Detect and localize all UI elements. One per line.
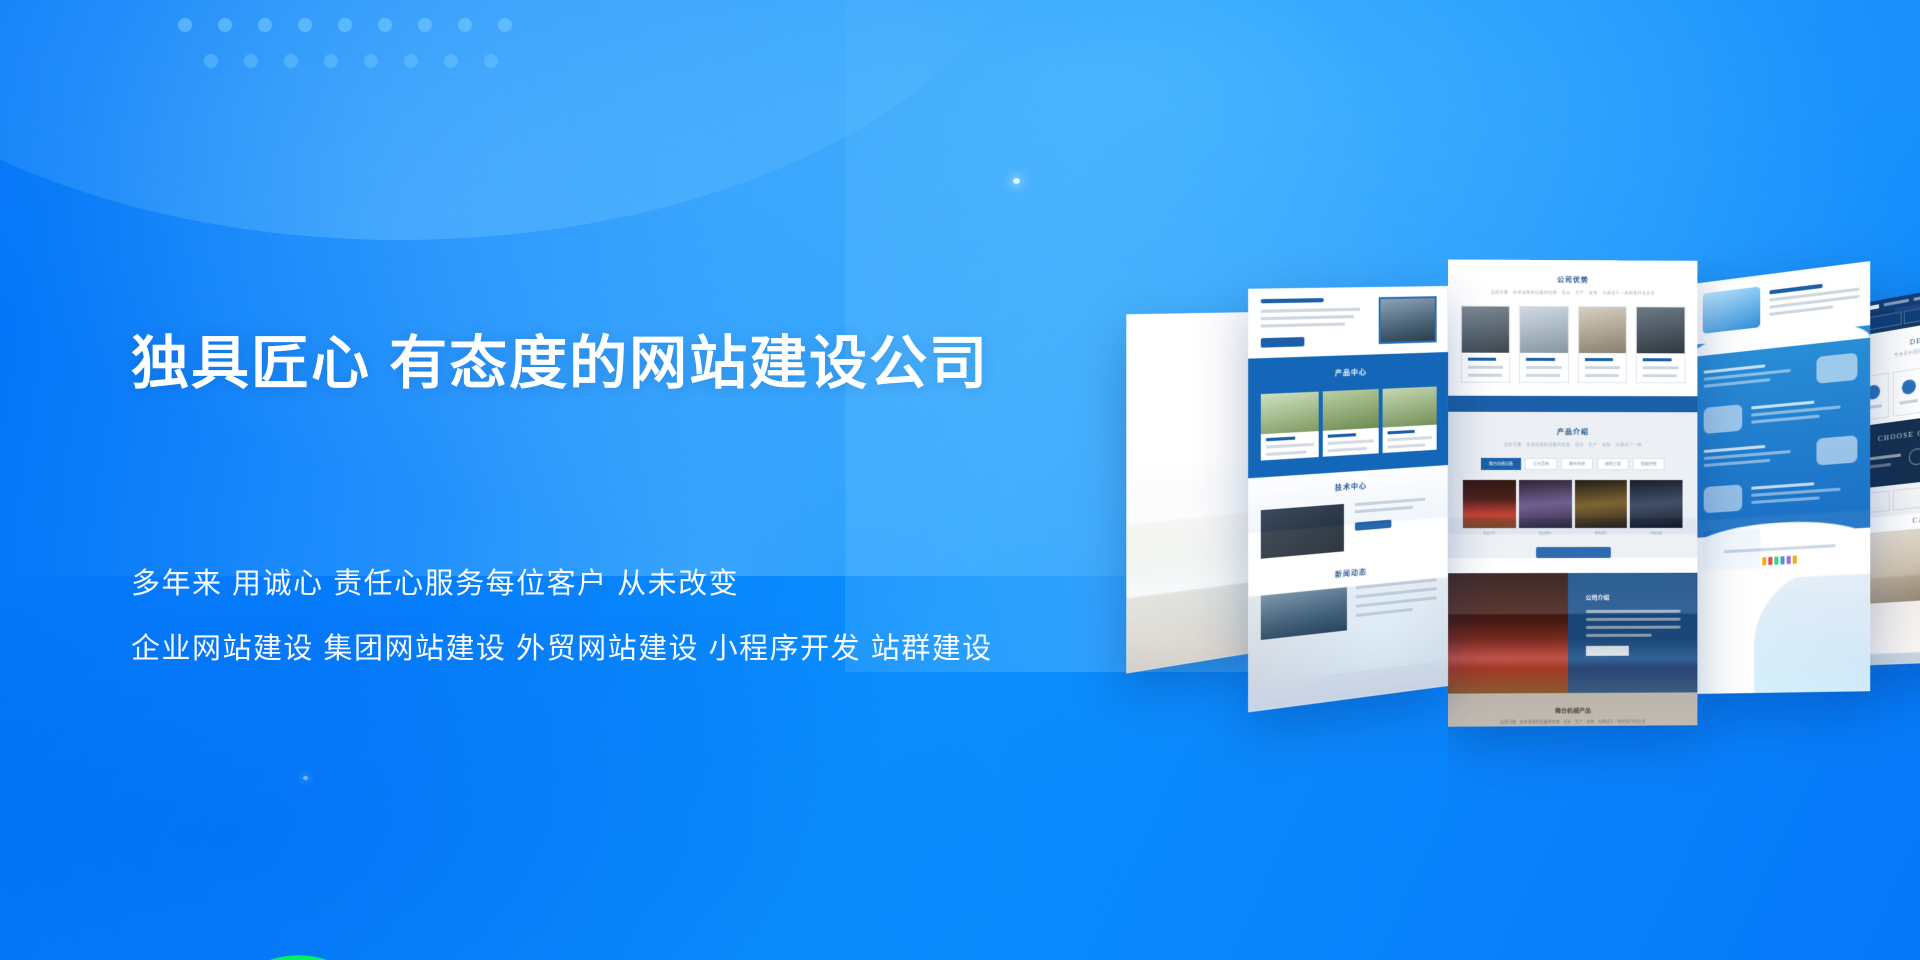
mockup-feature-row bbox=[1704, 435, 1857, 474]
dot-icon bbox=[338, 18, 352, 32]
dot-icon bbox=[204, 54, 218, 68]
dot-icon bbox=[484, 54, 498, 68]
mockup-advantage-section: 公司优势 品质可靠 · 技术成熟的设备供应商 · 设计 · 生产 · 安装 · … bbox=[1448, 259, 1698, 396]
mockup-illustration bbox=[1702, 286, 1760, 333]
subheadline-line-2: 企业网站建设 集团网站建设 外贸网站建设 小程序开发 站群建设 bbox=[131, 635, 1131, 664]
mockup-divider-band bbox=[1448, 395, 1698, 412]
mockup-card[interactable] bbox=[1323, 389, 1379, 457]
mockup-reason-icons bbox=[1909, 445, 1920, 466]
mockup-confetti bbox=[1692, 552, 1870, 569]
dot-icon bbox=[244, 54, 258, 68]
circle-icon bbox=[1909, 447, 1920, 465]
dot-icon bbox=[258, 18, 272, 32]
background-arc-decoration bbox=[0, 0, 1050, 240]
mockup-card[interactable] bbox=[1261, 392, 1319, 461]
mockup-section-subtitle: 品质可靠 · 技术成熟的设备供应商 · 设计 · 生产 · 安装 · 与调试于一… bbox=[1448, 289, 1698, 306]
dot-grid-row bbox=[204, 54, 498, 68]
mockup-card[interactable] bbox=[1636, 306, 1685, 383]
dot-icon bbox=[444, 54, 458, 68]
sparkle-icon bbox=[303, 776, 308, 780]
subheadline-line-1: 多年来 用诚心 责任心服务每位客户 从未改变 bbox=[131, 570, 1131, 599]
headline-block: 独具匠心 有态度的网站建设公司 bbox=[131, 330, 1111, 397]
mockup-tab[interactable]: 舞台机械设备 bbox=[1481, 457, 1521, 469]
dot-icon bbox=[378, 18, 392, 32]
dot-icon bbox=[418, 18, 432, 32]
mockup-card[interactable] bbox=[1893, 367, 1920, 417]
mockup-thumb[interactable]: 舞台灯光 bbox=[1463, 479, 1516, 534]
hero-banner: 独具匠心 有态度的网站建设公司 多年来 用诚心 责任心服务每位客户 从未改变 企… bbox=[0, 0, 1920, 960]
mockup-page-body: 产品中心 bbox=[1248, 286, 1448, 289]
mockup-about-section: 公司介绍 bbox=[1448, 573, 1698, 694]
mockup-reflection bbox=[1126, 380, 1259, 674]
dot-icon bbox=[218, 18, 232, 32]
dot-icon bbox=[298, 18, 312, 32]
mockup-feature-row bbox=[1704, 476, 1857, 513]
mockup-photo-city bbox=[1379, 296, 1437, 344]
mockup-about-text: 公司介绍 bbox=[1568, 573, 1697, 693]
subheadline-block: 多年来 用诚心 责任心服务每位客户 从未改变 企业网站建设 集团网站建设 外贸网… bbox=[131, 570, 1131, 664]
mockup-product-tabs: 舞台机械设备 灯光音响 幕布系统 座椅工程 智能控制 bbox=[1448, 457, 1698, 479]
mockup-thumb[interactable]: 剧场座椅 bbox=[1574, 480, 1627, 535]
dot-icon bbox=[498, 18, 512, 32]
dot-icon bbox=[324, 54, 338, 68]
mockup-news-section: 新闻动态 bbox=[1248, 552, 1448, 655]
mockup-thumb[interactable]: 机械设备 bbox=[1630, 480, 1682, 535]
mockup-feature-icon bbox=[1816, 352, 1857, 383]
mockup-tab[interactable]: 座椅工程 bbox=[1597, 458, 1629, 470]
dot-grid-row bbox=[178, 18, 512, 32]
mockup-footer-section: 舞台机械产品 品质可靠 · 技术成熟的设备供应商 · 设计 · 生产 · 安装 … bbox=[1448, 692, 1698, 726]
mockup-advantage-cards bbox=[1448, 305, 1698, 395]
mockup-nav-item[interactable] bbox=[1914, 293, 1920, 301]
mockup-page-body bbox=[1126, 312, 1259, 314]
mockup-product-section: 产品介绍 品质可靠 · 技术成熟的设备供应商 · 设计 · 生产 · 安装 · … bbox=[1448, 411, 1698, 558]
mockup-screen-education-platform[interactable] bbox=[1692, 261, 1870, 694]
page-title: 独具匠心 有态度的网站建设公司 bbox=[131, 330, 1111, 397]
dot-icon bbox=[364, 54, 378, 68]
mockup-screen-biotech-corporate[interactable]: 产品中心 bbox=[1248, 286, 1448, 712]
dot-icon bbox=[178, 18, 192, 32]
mockup-feature-icon bbox=[1704, 484, 1743, 513]
green-pill-shape bbox=[49, 921, 420, 960]
mockup-card[interactable] bbox=[1519, 306, 1568, 383]
mockup-photo-campus bbox=[1261, 587, 1348, 640]
mockup-tab[interactable]: 智能控制 bbox=[1633, 458, 1665, 470]
dot-icon bbox=[284, 54, 298, 68]
sparkle-icon bbox=[1013, 178, 1020, 184]
mockup-tab[interactable]: 幕布系统 bbox=[1561, 457, 1593, 469]
mockup-nav-item[interactable] bbox=[1884, 299, 1908, 307]
mockup-section-subtitle: 品质可靠 · 技术成熟的设备供应商 · 设计 · 生产 · 安装 · 与调试于一… bbox=[1448, 441, 1698, 457]
mockup-photo-equipment bbox=[1261, 503, 1344, 558]
mockup-card[interactable] bbox=[1383, 386, 1437, 453]
mockup-product-section: 产品中心 bbox=[1248, 352, 1448, 478]
mockup-screen-architecture-portfolio[interactable] bbox=[1126, 312, 1259, 674]
mockup-product-thumbs: 舞台灯光 舞台幕布 剧场座椅 机械设备 bbox=[1448, 479, 1698, 547]
mockup-footer-section bbox=[1692, 528, 1870, 580]
mockup-photo-theatre bbox=[1448, 573, 1568, 694]
mockup-more-button[interactable] bbox=[1536, 547, 1611, 558]
mockup-thumb[interactable]: 舞台幕布 bbox=[1519, 479, 1572, 534]
mockup-features-section bbox=[1692, 325, 1870, 538]
dot-icon bbox=[404, 54, 418, 68]
dot-icon bbox=[458, 18, 472, 32]
photo-air-dome-exterior bbox=[1126, 312, 1259, 314]
mockup-intro-section bbox=[1248, 286, 1448, 359]
mockup-product-cards bbox=[1248, 378, 1448, 470]
mockup-page-body: 公司优势 品质可靠 · 技术成熟的设备供应商 · 设计 · 生产 · 安装 · … bbox=[1448, 259, 1698, 260]
mockup-feature-row bbox=[1704, 352, 1857, 394]
mockup-logo-tile bbox=[1892, 486, 1920, 510]
mockup-card[interactable] bbox=[1577, 306, 1626, 383]
mockup-tab[interactable]: 灯光音响 bbox=[1525, 457, 1557, 469]
mockup-page-body bbox=[1692, 261, 1870, 284]
mockup-feature-icon bbox=[1816, 435, 1857, 465]
background-shadow-bottom-left bbox=[0, 614, 1152, 960]
website-mockup-gallery: 产品中心 bbox=[1130, 250, 1920, 730]
dot-grid-decoration bbox=[178, 18, 508, 68]
mockup-screen-auditorium-equipment[interactable]: 公司优势 品质可靠 · 技术成熟的设备供应商 · 设计 · 生产 · 安装 · … bbox=[1448, 259, 1698, 726]
mockup-feature-icon bbox=[1704, 404, 1743, 434]
mockup-feature-row bbox=[1704, 393, 1857, 434]
mockup-about-button[interactable] bbox=[1585, 646, 1629, 656]
mockup-card[interactable] bbox=[1460, 305, 1510, 382]
